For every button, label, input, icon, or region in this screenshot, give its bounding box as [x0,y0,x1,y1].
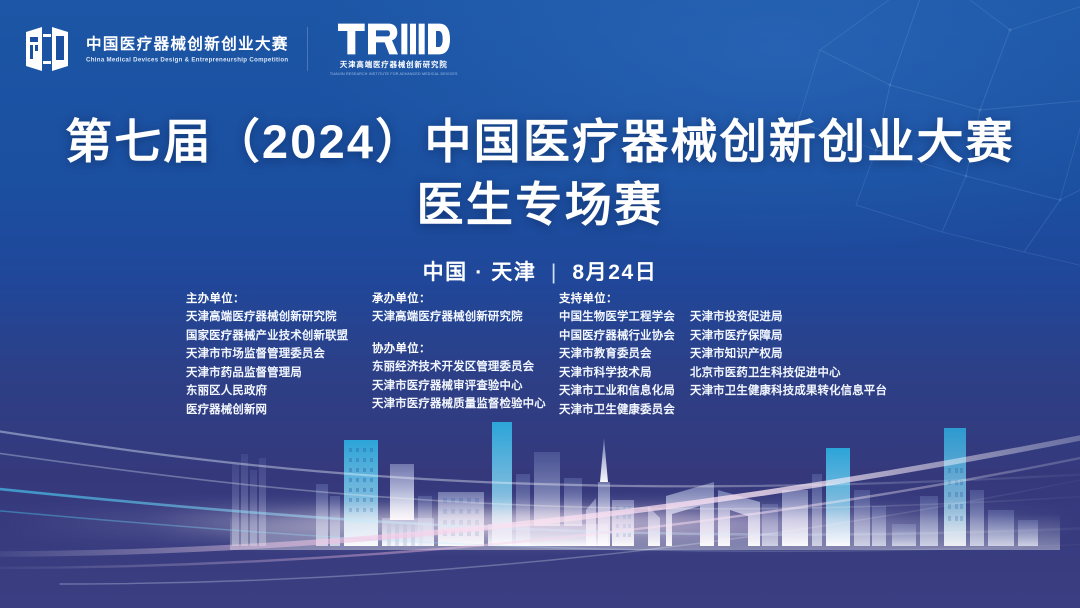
host-item: 国家医疗器械产业技术创新联盟 [186,327,372,345]
poster-canvas: 中国医疗器械创新创业大赛 China Medical Devices Desig… [0,0,1080,608]
coorganizer-item: 天津市医疗器械审评查验中心 [372,377,559,395]
host-item: 东丽区人民政府 [186,382,372,400]
host-item: 医疗器械创新网 [186,401,372,419]
organizer-column-supporter-a: 支持单位： 中国生物医学工程学会 中国医疗器械行业协会 天津市教育委员会 天津市… [559,290,690,419]
supporter-item: 天津市工业和信息化局 [559,382,690,400]
institute-name-cn: 天津高端医疗器械创新研究院 [340,59,448,70]
supporter-item: 中国生物医学工程学会 [559,308,690,326]
logo-divider [307,27,308,71]
supporter-item: 中国医疗器械行业协会 [559,327,690,345]
competition-logo-text: 中国医疗器械创新创业大赛 China Medical Devices Desig… [86,35,289,63]
supporter-item: 天津市知识产权局 [690,345,900,363]
event-dateline: 中国 · 天津 | 8月24日 [0,256,1080,286]
horizon-glow-decoration [0,510,1080,536]
organizer-column-host: 主办单位： 天津高端医疗器械创新研究院 国家医疗器械产业技术创新联盟 天津市市场… [186,290,372,419]
supporter-column-b-spacer [690,290,900,308]
supporter-item: 天津市科学技术局 [559,364,690,382]
host-item: 天津市市场监督管理委员会 [186,345,372,363]
title-line-1: 第七届（2024）中国医疗器械创新创业大赛 [0,113,1080,170]
header-logos: 中国医疗器械创新创业大赛 China Medical Devices Desig… [22,22,458,76]
dateline-separator: | [551,261,558,284]
competition-name-cn: 中国医疗器械创新创业大赛 [86,35,289,54]
event-location: 中国 · 天津 [423,261,537,284]
organizer-column-undertaker: 承办单位： 天津高端医疗器械创新研究院 协办单位： 东丽经济技术开发区管理委员会… [372,290,559,414]
trimd-wordmark-icon [338,22,450,56]
host-item: 天津市药品监督管理局 [186,364,372,382]
undertaker-item: 天津高端医疗器械创新研究院 [372,308,559,326]
coorganizer-heading: 协办单位： [372,340,559,358]
supporter-item: 天津市医疗保障局 [690,327,900,345]
supporter-item: 北京市医药卫生科技促进中心 [690,364,900,382]
coorganizer-item: 东丽经济技术开发区管理委员会 [372,358,559,376]
host-heading: 主办单位： [186,290,372,308]
competition-name-en: China Medical Devices Design & Entrepren… [86,56,289,63]
coorganizer-item: 天津市医疗器械质量监督检验中心 [372,395,559,413]
supporter-item: 天津市卫生健康科技成果转化信息平台 [690,382,900,400]
institute-logo: 天津高端医疗器械创新研究院 TIANJIN RESEARCH INSTITUTE… [330,22,458,76]
event-date: 8月24日 [572,261,657,284]
supporter-item: 天津市教育委员会 [559,345,690,363]
supporter-item: 天津市卫生健康委员会 [559,401,690,419]
institute-name-en: TIANJIN RESEARCH INSTITUTE FOR ADVANCED … [330,72,458,76]
supporter-item: 天津市投资促进局 [690,308,900,326]
host-item: 天津高端医疗器械创新研究院 [186,308,372,326]
supporter-heading: 支持单位： [559,290,690,308]
organizer-block: 主办单位： 天津高端医疗器械创新研究院 国家医疗器械产业技术创新联盟 天津市市场… [186,290,900,419]
undertaker-heading: 承办单位： [372,290,559,308]
column-spacer [372,327,559,340]
title-line-2: 医生专场赛 [0,176,1080,233]
open-door-icon [22,24,72,74]
poster-title: 第七届（2024）中国医疗器械创新创业大赛 医生专场赛 [0,113,1080,234]
organizer-column-supporter-b: 天津市投资促进局 天津市医疗保障局 天津市知识产权局 北京市医药卫生科技促进中心… [690,290,900,401]
